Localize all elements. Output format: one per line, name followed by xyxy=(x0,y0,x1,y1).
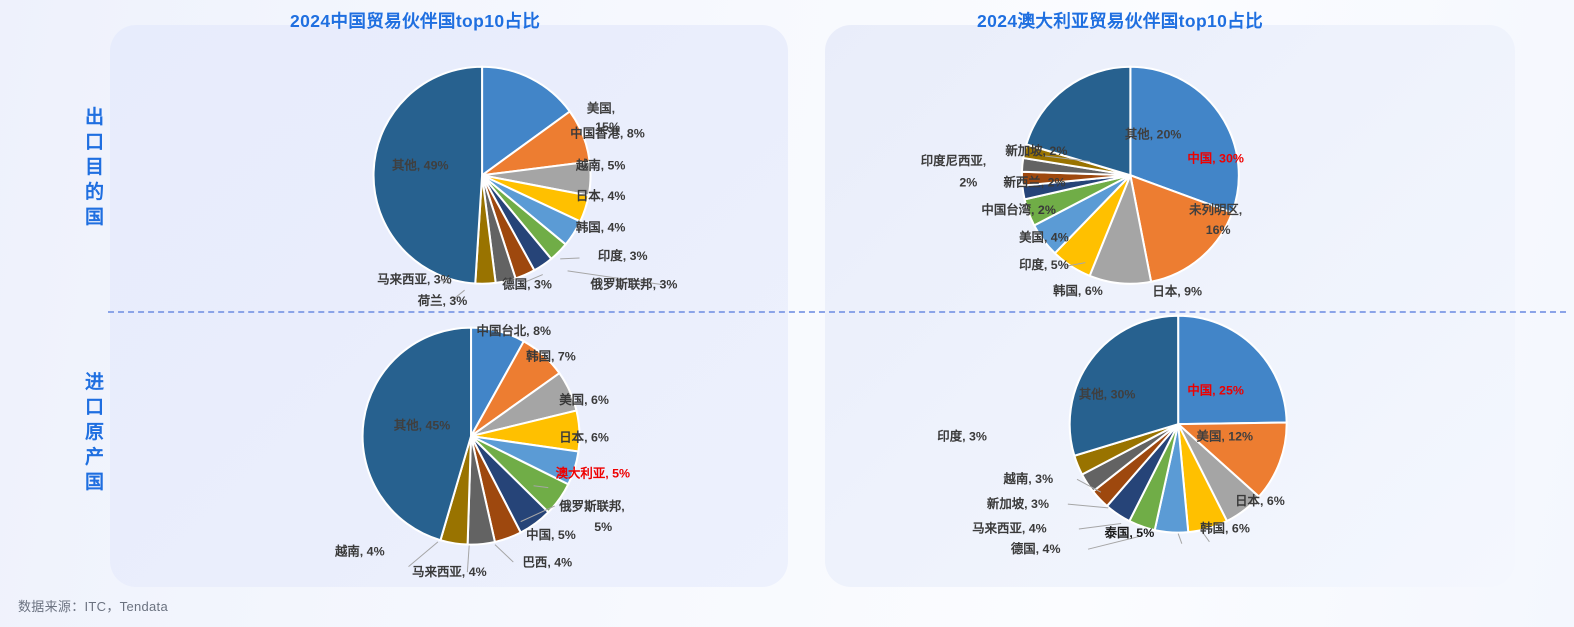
pie-label: 中国, 25% xyxy=(1187,383,1244,398)
pie-label: 越南, 3% xyxy=(1002,471,1053,486)
leader-line xyxy=(1178,534,1182,544)
pie-label: 马来西亚, 4% xyxy=(412,564,486,579)
pie-label: 日本, 6% xyxy=(1235,493,1285,508)
pie-label: 马来西亚, 4% xyxy=(972,521,1046,536)
pie-label: 日本, 4% xyxy=(576,188,626,203)
pie-label: 中国台湾, 2% xyxy=(981,202,1055,217)
pie-label: 德国, 3% xyxy=(502,276,552,291)
pie-label: 美国, xyxy=(587,101,615,116)
leader-line xyxy=(560,258,579,259)
pie-svg-china-export: 美国,15%其他, 49%中国香港, 8%越南, 5%日本, 4%韩国, 4%印… xyxy=(120,30,800,315)
pie-label: 韩国, 7% xyxy=(526,349,576,364)
pie-label: 新加坡, 3% xyxy=(987,496,1049,511)
pie-label: 澳大利亚, 5% xyxy=(556,465,630,480)
pie-label: 其他, 45% xyxy=(394,418,451,433)
pie-label: 新西兰, 2% xyxy=(1003,174,1065,189)
pie-chart-china-import: 中国台北, 8%韩国, 7%美国, 6%日本, 6%其他, 45%澳大利亚, 5… xyxy=(120,312,800,597)
pie-label: 其他, 30% xyxy=(1079,386,1136,401)
pie-label: 印度尼西亚, xyxy=(921,153,986,168)
leader-line xyxy=(1068,504,1108,508)
pie-label: 其他, 20% xyxy=(1125,126,1182,141)
pie-label: 中国, 30% xyxy=(1187,150,1244,165)
pie-label: 中国台北, 8% xyxy=(477,323,551,338)
pie-label: 俄罗斯联邦, 3% xyxy=(590,276,678,291)
leader-line xyxy=(495,545,513,562)
pie-label: 荷兰, 3% xyxy=(417,293,468,308)
pie-label: 日本, 6% xyxy=(559,430,609,445)
pie-label: 马来西亚, 3% xyxy=(377,272,451,287)
infographic-page: 2024中国贸易伙伴国top10占比 2024澳大利亚贸易伙伴国top10占比 … xyxy=(0,0,1574,627)
pie-svg-china-import: 中国台北, 8%韩国, 7%美国, 6%日本, 6%其他, 45%澳大利亚, 5… xyxy=(120,312,800,597)
pie-label: 德国, 4% xyxy=(1011,541,1061,556)
pie-label: 新加坡, 2% xyxy=(1005,143,1067,158)
leader-line xyxy=(409,542,438,567)
pie-label: 5% xyxy=(594,520,612,534)
pie-label: 越南, 5% xyxy=(575,158,626,173)
pie-label: 泰国, 5% xyxy=(1104,525,1155,540)
row-label-export: 出口目的国 xyxy=(78,105,112,230)
pie-chart-australia-export: 其他, 20%中国, 30%未列明区,16%日本, 9%韩国, 6%印度, 5%… xyxy=(830,30,1530,315)
pie-label: 其他, 49% xyxy=(392,158,449,173)
pie-slice-其他 xyxy=(374,67,483,284)
pie-label: 印度, 5% xyxy=(1019,257,1069,272)
pie-label: 美国, 12% xyxy=(1197,429,1254,444)
pie-label: 美国, 4% xyxy=(1019,229,1069,244)
pie-slice-中国 xyxy=(1178,316,1286,424)
pie-label: 美国, 6% xyxy=(559,392,609,407)
pie-svg-australia-import: 其他, 30%中国, 25%美国, 12%日本, 6%韩国, 6%泰国, 5%德… xyxy=(830,312,1530,597)
pie-label: 俄罗斯联邦, xyxy=(558,499,624,514)
pie-label: 中国, 5% xyxy=(526,527,576,542)
pie-label: 巴西, 4% xyxy=(523,556,573,570)
pie-chart-australia-import: 其他, 30%中国, 25%美国, 12%日本, 6%韩国, 6%泰国, 5%德… xyxy=(830,312,1530,597)
pie-label: 印度, 3% xyxy=(937,429,987,444)
pie-label: 越南, 4% xyxy=(334,544,385,559)
pie-svg-australia-export: 其他, 20%中国, 30%未列明区,16%日本, 9%韩国, 6%印度, 5%… xyxy=(830,30,1530,315)
pie-chart-china-export: 美国,15%其他, 49%中国香港, 8%越南, 5%日本, 4%韩国, 4%印… xyxy=(120,30,800,315)
pie-label: 韩国, 6% xyxy=(1200,521,1250,536)
pie-label: 印度, 3% xyxy=(598,248,648,263)
pie-label: 日本, 9% xyxy=(1152,284,1202,299)
pie-label: 韩国, 4% xyxy=(576,219,626,234)
pie-label: 韩国, 6% xyxy=(1053,283,1103,298)
source-note: 数据来源：ITC，Tendata xyxy=(18,596,168,615)
pie-label: 16% xyxy=(1206,223,1231,237)
row-label-import: 进口原产国 xyxy=(78,370,112,495)
pie-label: 未列明区, xyxy=(1188,202,1242,217)
pie-label: 2% xyxy=(959,175,977,189)
pie-label: 中国香港, 8% xyxy=(570,126,644,141)
